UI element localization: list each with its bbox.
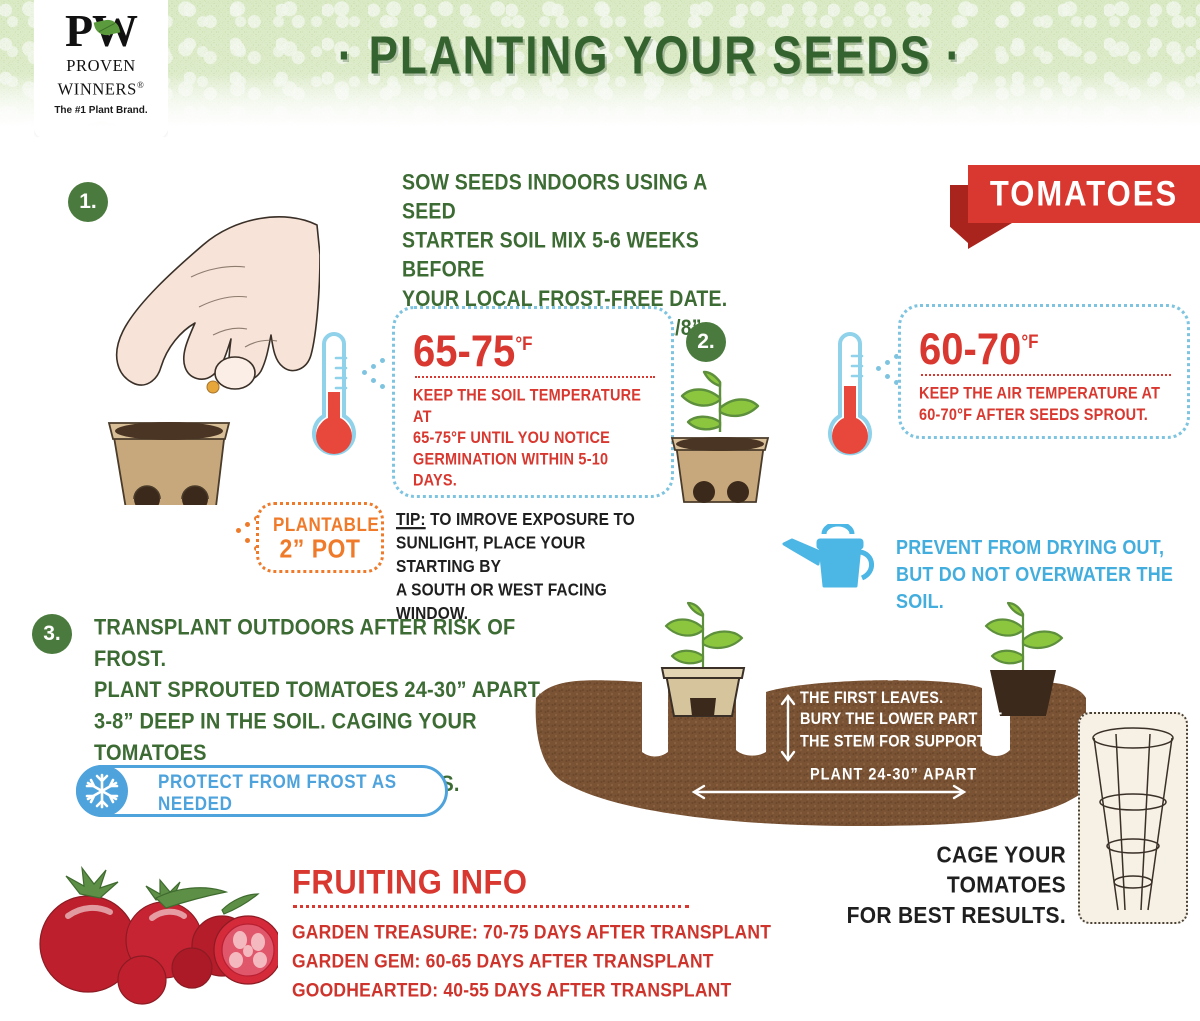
brand-name-line2: WINNERS® <box>34 77 168 98</box>
air-detail-line-2: 60-70°F AFTER SEEDS SPROUT. <box>919 406 1171 427</box>
tip-label: TIP: <box>396 510 426 529</box>
pot-callout-line-1: PLANTABLE <box>273 513 367 537</box>
fruiting-info-title: FRUITING INFO <box>292 862 528 902</box>
thermometer-air-icon <box>818 330 882 475</box>
depth-line-4: THE STEM FOR SUPPORT. <box>800 732 1020 754</box>
infographic-canvas: PW PROVEN WINNERS® The #1 Plant Brand. ·… <box>0 0 1200 1021</box>
planting-spacing-label: PLANT 24-30” APART <box>810 766 977 784</box>
step-badge-3: 3. <box>32 614 72 654</box>
brand-monogram: PW <box>34 8 168 54</box>
snowflake-badge <box>76 765 128 817</box>
cage-caption: CAGE YOUR TOMATOES FOR BEST RESULTS. <box>816 840 1066 931</box>
watering-line-1: PREVENT FROM DRYING OUT, <box>896 534 1200 561</box>
step-number-2: 2. <box>697 330 715 354</box>
air-callout-divider <box>921 374 1171 376</box>
registered-mark: ® <box>137 80 144 90</box>
fruiting-row-3: GOODHEARTED: 40-55 DAYS AFTER TRANSPLANT <box>292 975 771 1004</box>
planting-depth-note: PLANT 3-8” DEEP TO THE FIRST LEAVES. BUR… <box>800 666 1020 753</box>
soil-detail-line-2: 65-75°F UNTIL YOU NOTICE <box>413 429 655 450</box>
tomato-cage-icon <box>1080 714 1186 920</box>
hand-sowing-seed-illustration <box>95 195 320 505</box>
ribbon-label: TOMATOES <box>990 173 1178 214</box>
brand-name-line1: PROVEN <box>34 57 168 74</box>
ribbon-body: TOMATOES <box>968 165 1200 223</box>
frost-badge-label: PROTECT FROM FROST AS NEEDED <box>158 771 445 816</box>
ribbon-fold <box>968 223 1012 249</box>
soil-temp-range: 65-75 <box>413 327 515 376</box>
air-temperature-callout: 60-70°F KEEP THE AIR TEMPERATURE AT 60-7… <box>898 304 1190 439</box>
air-detail-line-1: KEEP THE AIR TEMPERATURE AT <box>919 384 1171 405</box>
air-temp-range: 60-70 <box>919 325 1021 374</box>
depth-line-2: THE FIRST LEAVES. <box>800 688 1020 710</box>
tomatoes-ribbon: TOMATOES <box>968 165 1200 223</box>
soil-temp-unit: °F <box>515 333 532 354</box>
step-number-3: 3. <box>43 622 61 646</box>
watering-can-icon <box>778 524 888 594</box>
depth-line-3: BURY THE LOWER PART OF <box>800 710 1020 732</box>
step-3-line-2: PLANT SPROUTED TOMATOES 24-30” APART, <box>94 675 564 706</box>
soil-callout-divider <box>415 376 655 378</box>
brand-logo: PW PROVEN WINNERS® The #1 Plant Brand. <box>34 0 168 138</box>
step-3-line-1: TRANSPLANT OUTDOORS AFTER RISK OF FROST. <box>94 612 564 675</box>
tomato-cluster-illustration <box>26 848 278 1006</box>
soil-detail-line-3: GERMINATION WITHIN 5-10 DAYS. <box>413 450 655 493</box>
tip-line-1-rest: TO IMROVE EXPOSURE TO <box>426 510 635 529</box>
cage-caption-line-2: FOR BEST RESULTS. <box>816 900 1066 930</box>
brand-tagline: The #1 Plant Brand. <box>34 105 168 116</box>
tip-line-2: SUNLIGHT, PLACE YOUR STARTING BY <box>396 532 666 579</box>
air-temp-value: 60-70°F <box>919 319 1171 373</box>
step-badge-2: 2. <box>686 322 726 362</box>
page-title: · PLANTING YOUR SEEDS · <box>300 26 1000 99</box>
fruiting-row-2: GARDEN GEM: 60-65 DAYS AFTER TRANSPLANT <box>292 946 771 975</box>
frost-protection-badge[interactable]: PROTECT FROM FROST AS NEEDED <box>76 765 448 817</box>
fruiting-row-1: GARDEN TREASURE: 70-75 DAYS AFTER TRANSP… <box>292 917 771 946</box>
soil-detail-line-1: KEEP THE SOIL TEMPERATURE AT <box>413 386 655 429</box>
step-1-line-1: SOW SEEDS INDOORS USING A SEED <box>402 168 762 226</box>
fruiting-info-list: GARDEN TREASURE: 70-75 DAYS AFTER TRANSP… <box>292 917 771 1004</box>
step-1-line-2: STARTER SOIL MIX 5-6 WEEKS BEFORE <box>402 226 762 284</box>
step-3-line-3: 3-8” DEEP IN THE SOIL. CAGING YOUR TOMAT… <box>94 706 564 769</box>
tip-line-1: TIP: TO IMROVE EXPOSURE TO <box>396 508 666 532</box>
pot-callout-line-2: 2” POT <box>273 534 367 563</box>
air-temp-detail: KEEP THE AIR TEMPERATURE AT 60-70°F AFTE… <box>919 384 1171 427</box>
brand-name-text: WINNERS <box>58 80 137 99</box>
soil-temperature-callout: 65-75°F KEEP THE SOIL TEMPERATURE AT 65-… <box>392 306 674 498</box>
cage-caption-line-1: CAGE YOUR TOMATOES <box>816 840 1066 900</box>
air-temp-unit: °F <box>1021 331 1038 352</box>
thermometer-soil-icon <box>302 330 366 475</box>
seedling-left-illustration <box>648 598 758 728</box>
depth-line-1: PLANT 3-8” DEEP TO <box>800 666 1020 688</box>
soil-temp-value: 65-75°F <box>413 321 655 375</box>
seed <box>207 381 219 393</box>
plantable-pot-callout: PLANTABLE 2” POT <box>256 502 384 573</box>
tomato-cage-card <box>1078 712 1188 924</box>
tip-note: TIP: TO IMROVE EXPOSURE TO SUNLIGHT, PLA… <box>396 508 666 626</box>
snowflake-icon <box>83 772 121 810</box>
soil-temp-detail: KEEP THE SOIL TEMPERATURE AT 65-75°F UNT… <box>413 386 655 492</box>
fruiting-info-divider <box>293 905 689 908</box>
seedling-in-pot-illustration <box>650 368 790 508</box>
ribbon-tail <box>950 185 968 243</box>
